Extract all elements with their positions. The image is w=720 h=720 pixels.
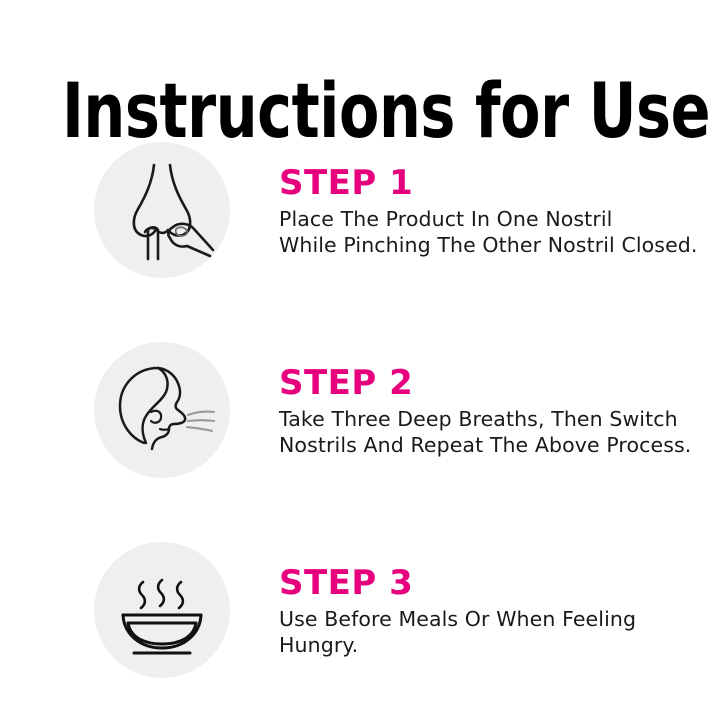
step-1-label: STEP 1 <box>279 166 709 200</box>
step-row: STEP 3 Use Before Meals Or When Feeling … <box>0 530 720 690</box>
step-1-icon-container <box>94 142 230 278</box>
step-3-description: Use Before Meals Or When Feeling Hungry. <box>279 606 709 658</box>
step-3-label: STEP 3 <box>279 566 709 600</box>
step-row: STEP 1 Place The Product In One Nostril … <box>0 130 720 290</box>
step-2-description: Take Three Deep Breaths, Then Switch Nos… <box>279 406 709 458</box>
step-1-description: Place The Product In One Nostril While P… <box>279 206 709 258</box>
step-3-text: STEP 3 Use Before Meals Or When Feeling … <box>279 566 709 658</box>
steaming-bowl-icon <box>110 558 214 662</box>
step-2-icon-container <box>94 342 230 478</box>
step-3-icon-container <box>94 542 230 678</box>
head-profile-breathing-icon <box>106 354 218 466</box>
instructions-page: Instructions for Use <box>0 0 720 720</box>
step-row: STEP 2 Take Three Deep Breaths, Then Swi… <box>0 330 720 490</box>
nose-pinch-finger-icon <box>107 155 217 265</box>
step-2-text: STEP 2 Take Three Deep Breaths, Then Swi… <box>279 366 709 458</box>
step-2-label: STEP 2 <box>279 366 709 400</box>
step-1-text: STEP 1 Place The Product In One Nostril … <box>279 166 709 258</box>
